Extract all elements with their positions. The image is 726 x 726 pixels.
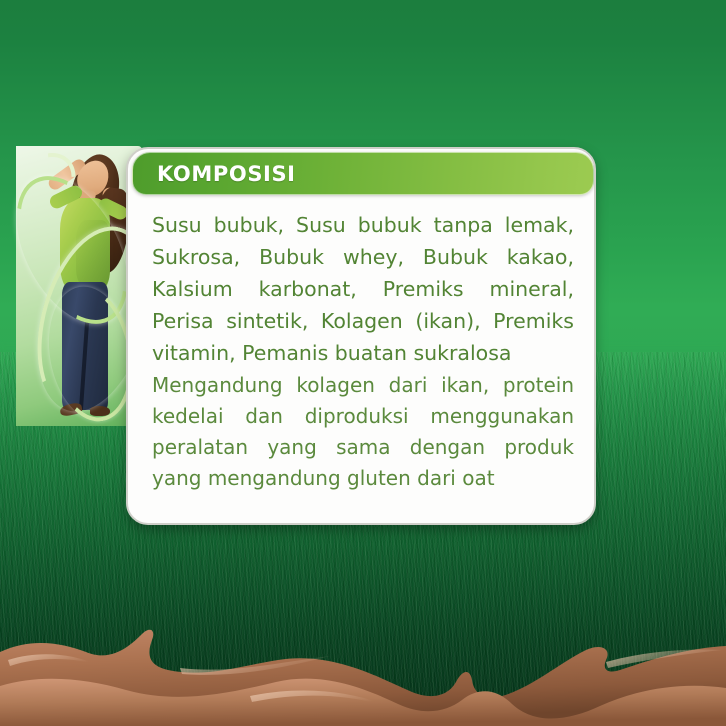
product-packaging-panel: KOMPOSISI Susu bubuk, Susu bubuk tanpa l… bbox=[0, 0, 726, 726]
composition-card: KOMPOSISI Susu bubuk, Susu bubuk tanpa l… bbox=[126, 147, 596, 525]
page-title: KOMPOSISI bbox=[133, 162, 296, 186]
chocolate-milk-splash bbox=[0, 608, 726, 726]
ingredients-text: Susu bubuk, Susu bubuk tanpa lemak, Sukr… bbox=[152, 209, 574, 369]
composition-card-header: KOMPOSISI bbox=[132, 152, 594, 195]
composition-card-body: Susu bubuk, Susu bubuk tanpa lemak, Sukr… bbox=[128, 197, 596, 525]
woman-figure bbox=[16, 146, 142, 426]
allergen-note-text: Mengandung kolagen dari ikan, protein ke… bbox=[152, 370, 574, 494]
